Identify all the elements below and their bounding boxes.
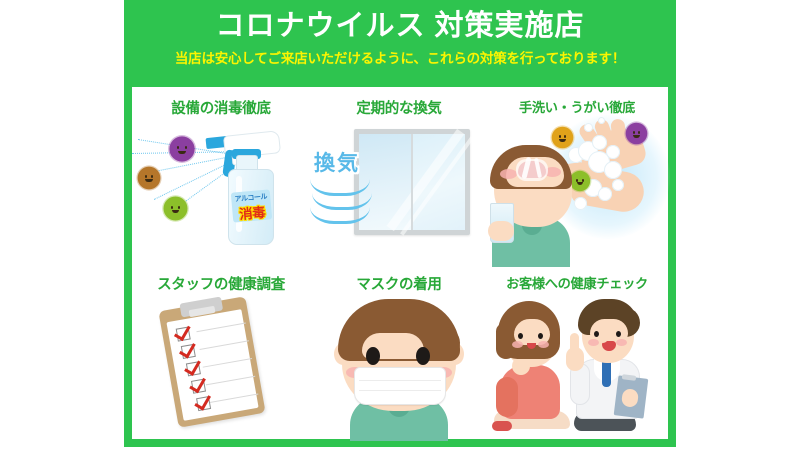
spray-dot-line — [144, 157, 229, 174]
soap-bubble — [584, 123, 593, 132]
clipboard-illustration — [132, 293, 310, 439]
poster-title: コロナウイルス 対策実施店 — [124, 9, 676, 43]
cheek-blush — [500, 169, 517, 179]
eye-left — [366, 347, 380, 365]
window-frame — [354, 129, 470, 235]
eye-right — [538, 333, 543, 339]
window-pane-right — [413, 134, 465, 230]
measure-card-staff-health: スタッフの健康調査 — [132, 263, 310, 439]
handwash-illustration — [488, 117, 666, 263]
germ-icon-purple — [628, 125, 645, 142]
bottle-label-disinfect: 消毒 — [234, 200, 271, 223]
checklist-line — [206, 376, 255, 386]
health-check-illustration — [488, 293, 666, 439]
window-mullion — [411, 134, 413, 230]
doctor-tie — [602, 361, 611, 387]
clipboard — [158, 296, 265, 427]
clipboard-paper — [166, 309, 258, 421]
soap-bubble — [598, 117, 605, 124]
checklist-line — [203, 358, 252, 368]
checklist-line — [196, 323, 245, 333]
face-mask — [354, 367, 446, 405]
customer-shoe — [492, 421, 512, 431]
measure-card-handwash: 手洗い・うがい徹底 — [488, 87, 666, 263]
eye-left — [518, 333, 523, 339]
spray-bottle-illustration: アルコール 消毒 — [132, 117, 310, 263]
window-illustration: 換気 — [310, 117, 488, 263]
screenshot-canvas: コロナウイルス 対策実施店 当店は安心してご来店いただけるように、これらの対策を… — [0, 0, 800, 450]
mask-fold — [359, 380, 441, 381]
spray-dot-line — [154, 165, 225, 200]
measure-caption: スタッフの健康調査 — [132, 273, 310, 294]
eye-right — [416, 347, 430, 365]
poster: コロナウイルス 対策実施店 当店は安心してご来店いただけるように、これらの対策を… — [124, 0, 676, 447]
checklist-line — [200, 340, 249, 350]
soap-bubble — [592, 135, 607, 150]
measure-card-customer-check: お客様への健康チェック — [488, 263, 666, 439]
doctor-nose — [598, 333, 608, 343]
eye-right — [616, 331, 621, 337]
measure-caption: お客様への健康チェック — [488, 273, 666, 292]
germ-icon-brown — [140, 169, 158, 187]
measures-grid: 設備の消毒徹底 — [132, 87, 668, 439]
window-inner — [359, 134, 465, 230]
soap-bubble — [604, 161, 622, 179]
measure-caption: 設備の消毒徹底 — [132, 97, 310, 118]
ventilation-text: 換気 — [314, 147, 360, 177]
measures-board: 設備の消毒徹底 — [132, 87, 668, 439]
soap-bubble — [598, 187, 612, 201]
soap-bubble — [574, 197, 587, 210]
index-finger — [570, 333, 579, 353]
hand-holding-glass — [488, 221, 514, 241]
customer-arm — [496, 377, 518, 417]
measure-card-ventilation: 定期的な換気 換気 — [310, 87, 488, 263]
poster-header: コロナウイルス 対策実施店 当店は安心してご来店いただけるように、これらの対策を… — [124, 0, 676, 87]
germ-icon-purple — [172, 139, 192, 159]
mask-illustration — [310, 293, 488, 439]
cheek-blush — [588, 339, 599, 346]
soap-bubble — [612, 179, 624, 191]
soap-bubble — [606, 145, 620, 159]
measure-card-disinfection: 設備の消毒徹底 — [132, 87, 310, 263]
measure-card-mask: マスクの着用 — [310, 263, 488, 439]
germ-icon-green — [166, 199, 185, 218]
cheek-blush — [616, 339, 627, 346]
mask-fold — [359, 390, 441, 391]
bottle-label: アルコール 消毒 — [231, 189, 272, 222]
poster-subtitle: 当店は安心してご来店いただけるように、これらの対策を行っております！ — [124, 51, 676, 67]
measure-caption: 定期的な換気 — [310, 97, 488, 118]
germ-icon-orange — [554, 129, 571, 146]
cheek-blush — [512, 341, 523, 348]
germ-icon-green — [572, 173, 588, 189]
measure-caption: マスクの着用 — [310, 273, 488, 294]
measure-caption: 手洗い・うがい徹底 — [488, 97, 666, 116]
gargle-water — [516, 159, 548, 181]
cheek-blush — [538, 341, 549, 348]
checklist-line — [209, 393, 258, 403]
